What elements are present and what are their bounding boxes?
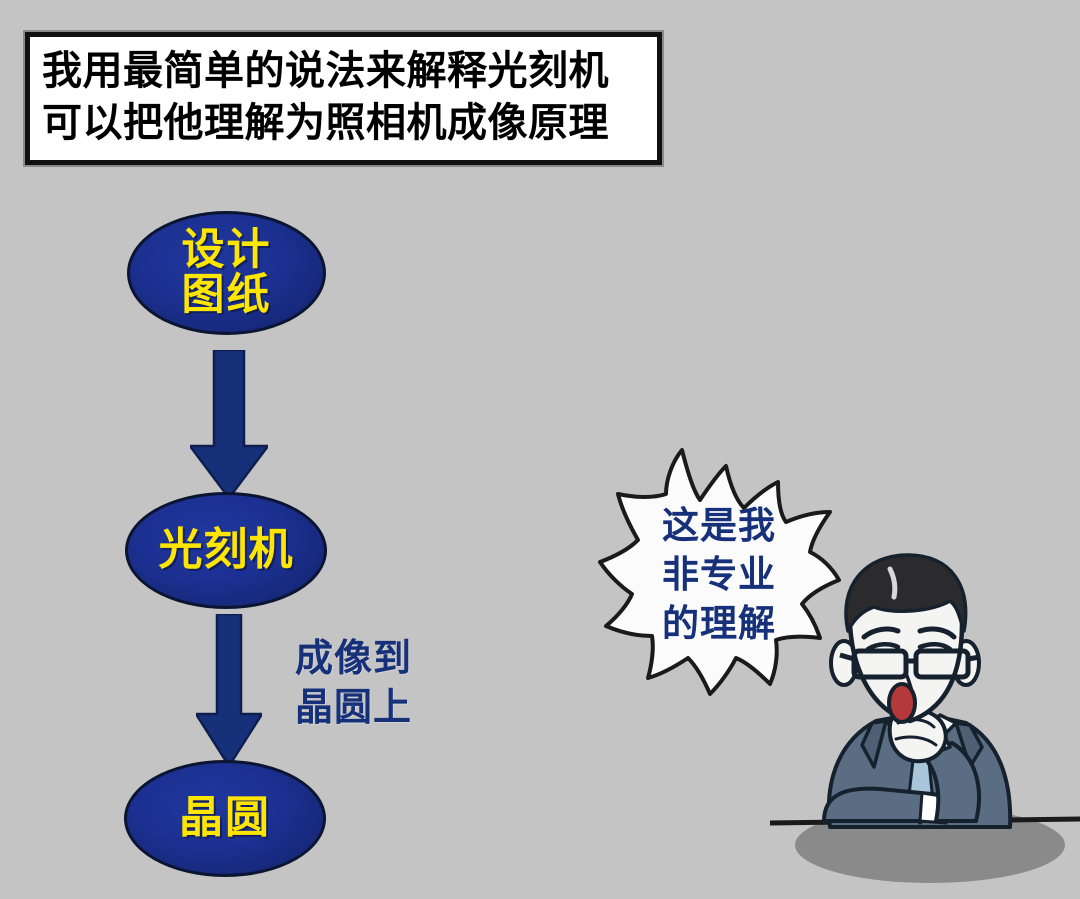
flow-node-wafer[interactable]: 晶圆 [124, 760, 326, 877]
cartoon-thinking-man [770, 545, 1080, 899]
down-arrow-icon-2 [196, 614, 262, 766]
down-arrow-icon-1 [190, 350, 268, 498]
flow-node-wafer-label: 晶圆 [179, 795, 271, 841]
arrow-label-line-2: 晶圆上 [295, 683, 475, 732]
title-line-1: 我用最简单的说法来解释光刻机 [42, 46, 647, 97]
glasses-temple-right [968, 657, 980, 659]
flow-node-design-drawing[interactable]: 设计 图纸 [127, 211, 326, 335]
flow-node-litho-label: 光刻机 [159, 527, 294, 573]
arrow-annotation-label: 成像到 晶圆上 [295, 634, 475, 733]
speech-line-1: 这是我 [596, 502, 842, 551]
title-caption-box: 我用最简单的说法来解释光刻机 可以把他理解为照相机成像原理 [25, 32, 662, 165]
flow-node-lithography-machine[interactable]: 光刻机 [125, 492, 327, 609]
poster-canvas: 我用最简单的说法来解释光刻机 可以把他理解为照相机成像原理 设计 图纸 光刻机 … [0, 0, 1080, 899]
arrow-label-line-1: 成像到 [295, 634, 475, 683]
title-line-2: 可以把他理解为照相机成像原理 [42, 98, 647, 149]
mouth [889, 684, 915, 722]
flow-node-design-label-1: 设计 [182, 228, 272, 273]
flow-node-design-label-2: 图纸 [182, 273, 272, 318]
